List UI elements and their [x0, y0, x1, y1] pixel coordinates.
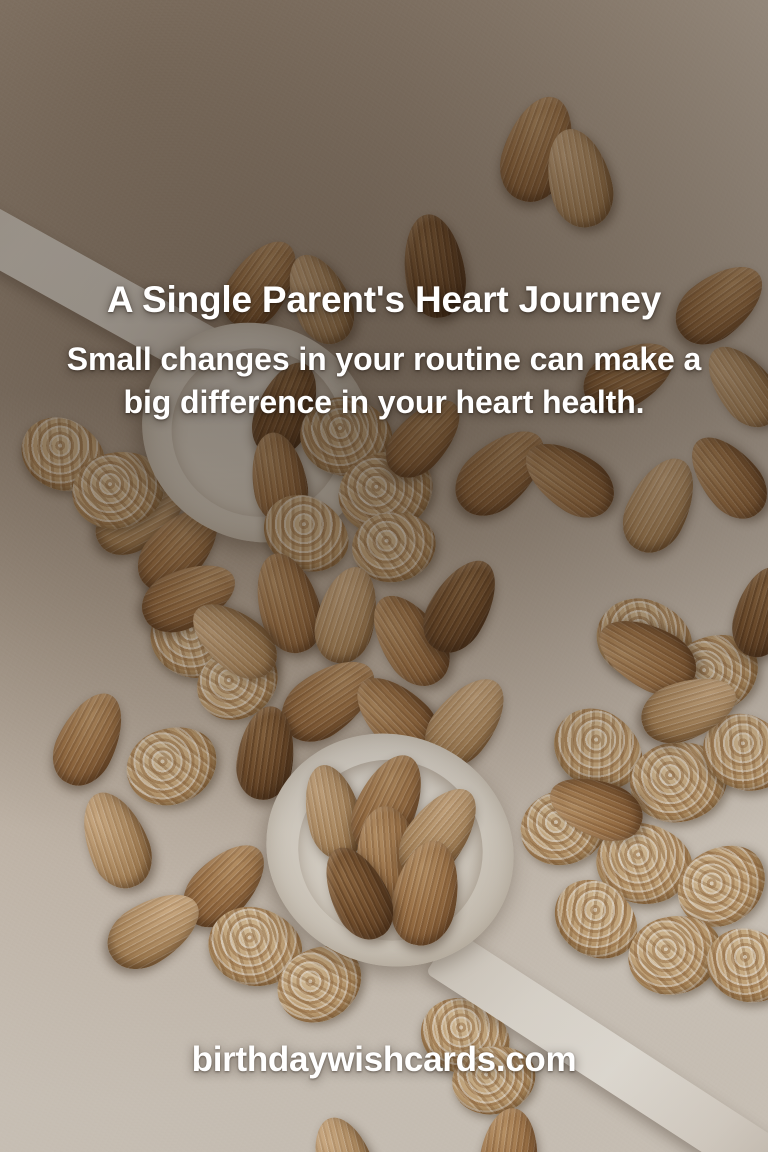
dark-overlay [0, 0, 768, 1152]
card-headline: A Single Parent's Heart Journey [52, 276, 716, 324]
greeting-card: A Single Parent's Heart Journey Small ch… [0, 0, 768, 1152]
background-photo [0, 0, 768, 1152]
text-block: A Single Parent's Heart Journey Small ch… [0, 276, 768, 424]
website-url: birthdaywishcards.com [0, 1040, 768, 1080]
card-subheadline: Small changes in your routine can make a… [52, 338, 716, 424]
